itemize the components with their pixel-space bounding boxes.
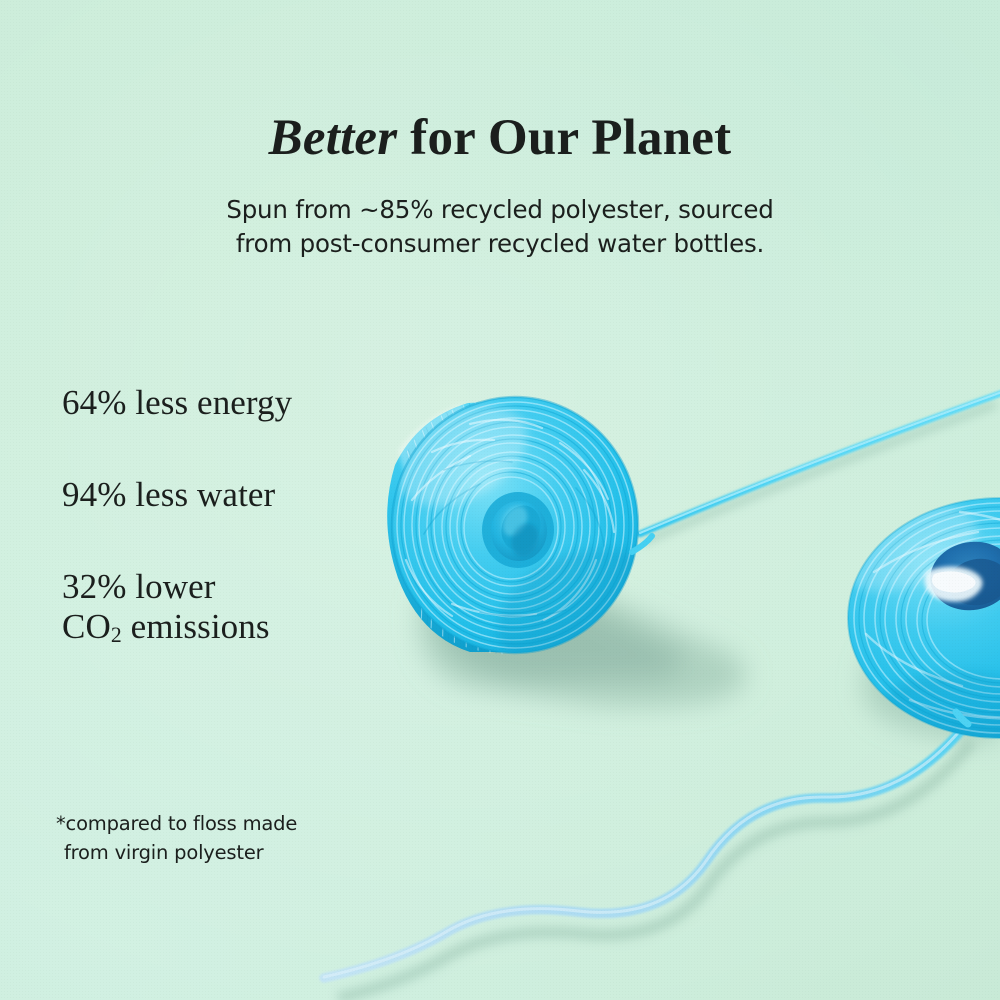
stat-co2-line-1: 32% lower [62,567,292,607]
stat-list: 64% less energy 94% less water 32% lower… [62,383,292,647]
stat-item-co2: 32% lower CO2 emissions [62,567,292,647]
subtitle: Spun from ~85% recycled polyester, sourc… [0,193,1000,263]
page-title: Better for Our Planet [0,112,1000,166]
subtitle-line-2: from post-consumer recycled water bottle… [0,227,1000,262]
stat-item-water: 94% less water [62,475,292,515]
subtitle-line-1: Spun from ~85% recycled polyester, sourc… [0,193,1000,228]
promo-image: Better for Our Planet Spun from ~85% rec… [0,0,1000,1000]
page-title-rest: for Our Planet [397,110,731,166]
stat-co2-prefix: CO [62,607,111,646]
stat-water-text: 94% less water [62,475,292,515]
page-title-emphasis: Better [269,110,398,166]
footnote-line-2: from virgin polyester [56,838,297,868]
footnote: *compared to floss made from virgin poly… [56,809,297,868]
stat-co2-subscript: 2 [111,623,122,647]
stat-item-energy: 64% less energy [62,383,292,423]
stat-energy-text: 64% less energy [62,383,292,423]
stat-co2-suffix: emissions [122,607,270,646]
footnote-line-1: *compared to floss made [56,809,297,839]
stat-co2-line-2: CO2 emissions [62,607,292,647]
